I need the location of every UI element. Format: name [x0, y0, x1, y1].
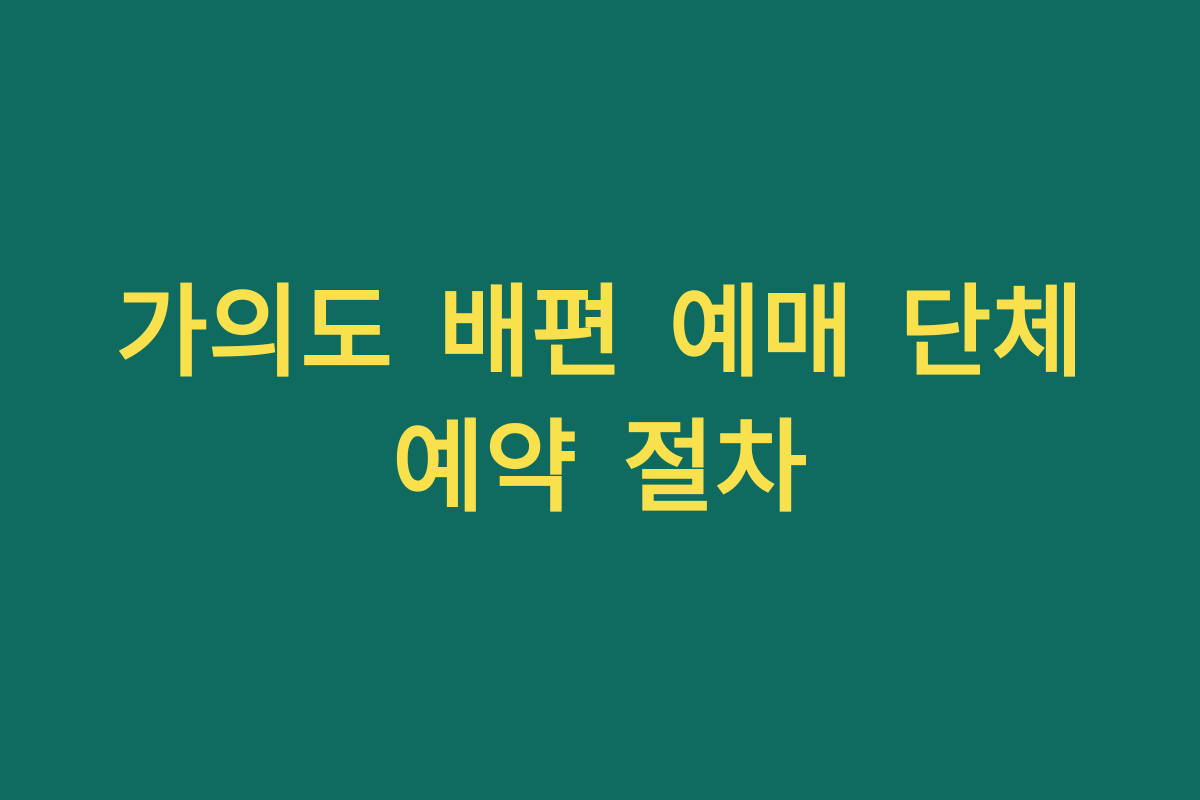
headline-line-2: 예약 절차 — [116, 400, 1084, 535]
headline-block: 가의도 배편 예매 단체 예약 절차 — [0, 0, 1200, 800]
banner-canvas: 가의도 배편 예매 단체 예약 절차 — [0, 0, 1200, 800]
headline-line-1: 가의도 배편 예매 단체 — [116, 265, 1084, 400]
page-title: 가의도 배편 예매 단체 예약 절차 — [116, 265, 1084, 535]
